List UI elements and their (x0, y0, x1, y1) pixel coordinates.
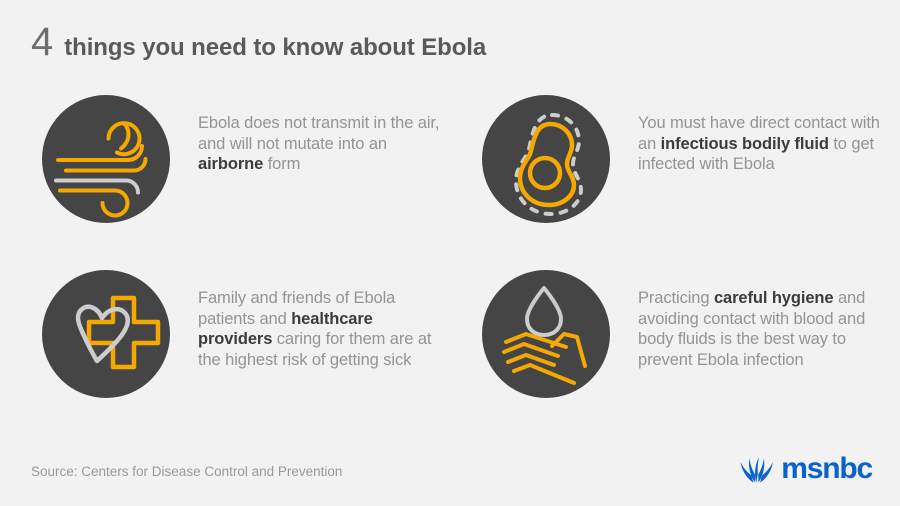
fact-item-4: Practicing careful hygiene and avoiding … (482, 270, 900, 398)
title-text: things you need to know about Ebola (64, 36, 486, 60)
page-title: 4 things you need to know about Ebola (31, 22, 486, 62)
title-number: 4 (31, 22, 53, 62)
body-text: Ebola does not transmit in the air, and … (198, 114, 439, 153)
handwashing-icon (482, 270, 610, 398)
body-text: Practicing (638, 289, 714, 307)
emphasis-text: infectious bodily fluid (661, 135, 829, 153)
facts-grid: Ebola does not transmit in the air, and … (0, 95, 900, 435)
nbc-peacock-icon (740, 455, 774, 483)
fact-item-1: Ebola does not transmit in the air, and … (42, 95, 462, 223)
body-text: form (263, 155, 300, 173)
fact-text-2: You must have direct contact with an inf… (638, 113, 888, 175)
wind-icon (42, 95, 170, 223)
emphasis-text: airborne (198, 155, 263, 173)
fact-text-1: Ebola does not transmit in the air, and … (198, 113, 448, 175)
fact-text-3: Family and friends of Ebola patients and… (198, 288, 448, 370)
bodily-fluid-droplet-icon (482, 95, 610, 223)
msnbc-wordmark: msnbc (781, 454, 872, 484)
heart-and-medical-cross-icon (42, 270, 170, 398)
source-attribution: Source: Centers for Disease Control and … (31, 464, 342, 479)
fact-item-3: Family and friends of Ebola patients and… (42, 270, 462, 398)
fact-item-2: You must have direct contact with an inf… (482, 95, 900, 223)
msnbc-logo: msnbc (740, 452, 872, 486)
fact-text-4: Practicing careful hygiene and avoiding … (638, 288, 888, 370)
emphasis-text: careful hygiene (714, 289, 834, 307)
